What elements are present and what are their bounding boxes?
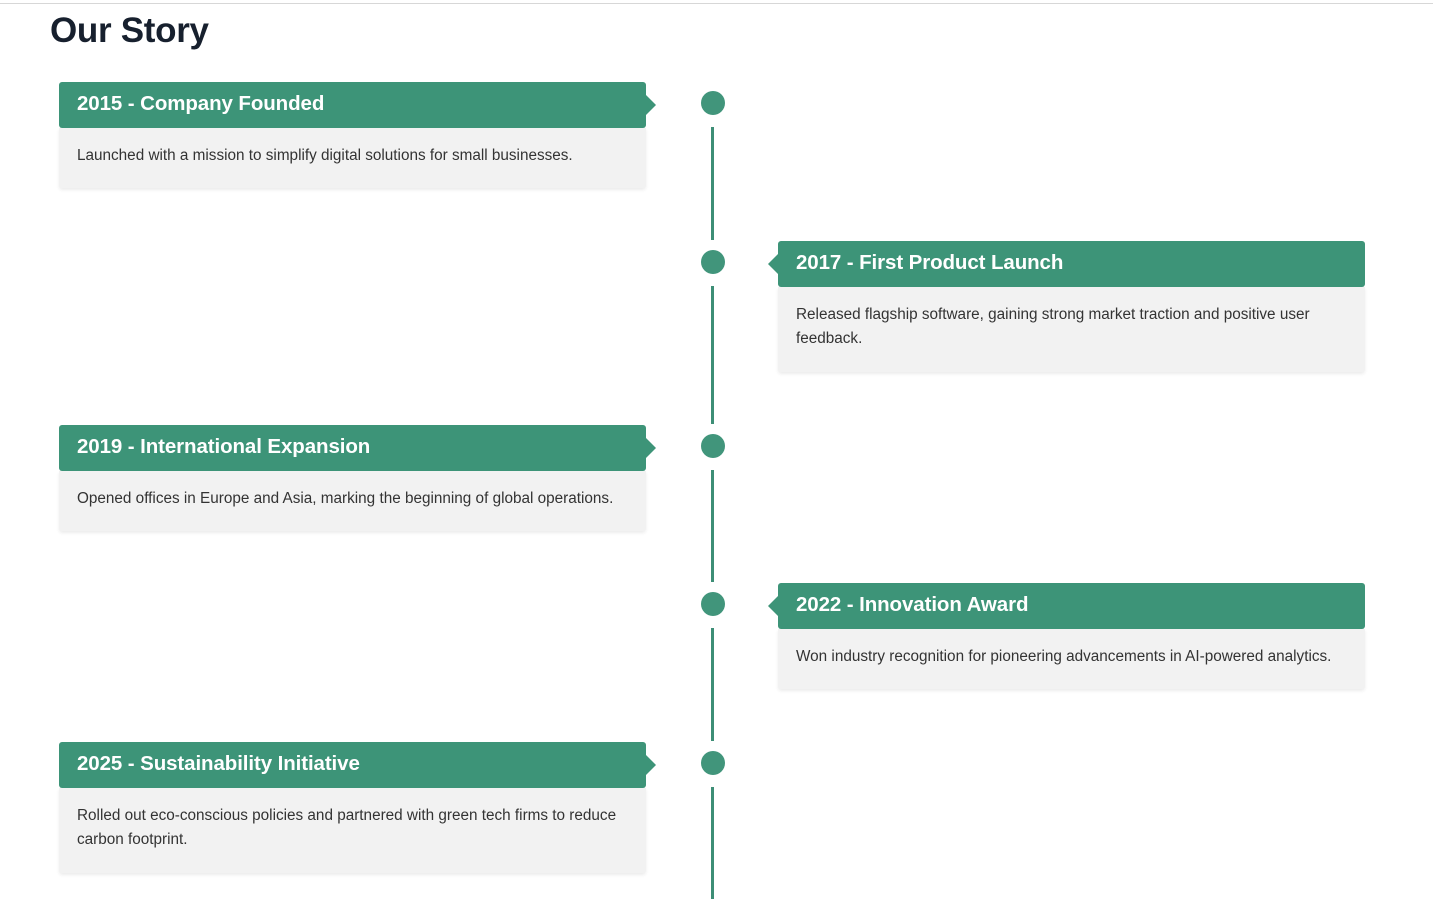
timeline-card-description: Opened offices in Europe and Asia, marki…: [59, 471, 646, 532]
timeline-card-title: 2019 - International Expansion: [77, 437, 370, 458]
timeline-dot-2019[interactable]: [701, 434, 725, 458]
timeline-connector-line-4: [711, 628, 714, 741]
arrow-left-icon: [768, 595, 779, 617]
timeline-card[interactable]: 2025 - Sustainability InitiativeRolled o…: [59, 742, 646, 873]
timeline-event-2019-international-expansion[interactable]: 2019 - International ExpansionOpened off…: [59, 425, 646, 531]
timeline-connector-line-2: [711, 286, 714, 424]
timeline-card-title: 2022 - Innovation Award: [796, 595, 1028, 616]
timeline-dot-2025[interactable]: [701, 751, 725, 775]
timeline-connector-line-3: [711, 470, 714, 582]
timeline-card-header[interactable]: 2019 - International Expansion: [59, 425, 646, 471]
timeline-event-2022-innovation-award[interactable]: 2022 - Innovation AwardWon industry reco…: [778, 583, 1365, 689]
timeline-card-description: Launched with a mission to simplify digi…: [59, 128, 646, 189]
arrow-right-icon: [645, 437, 656, 459]
timeline-event-2015-company-founded[interactable]: 2015 - Company FoundedLaunched with a mi…: [59, 82, 646, 188]
timeline-dot-2015[interactable]: [701, 91, 725, 115]
timeline-card[interactable]: 2019 - International ExpansionOpened off…: [59, 425, 646, 531]
timeline-card-title: 2025 - Sustainability Initiative: [77, 754, 360, 775]
timeline-card-header[interactable]: 2017 - First Product Launch: [778, 241, 1365, 287]
timeline-card-header[interactable]: 2025 - Sustainability Initiative: [59, 742, 646, 788]
timeline-card-title: 2017 - First Product Launch: [796, 253, 1063, 274]
timeline-dot-2022[interactable]: [701, 592, 725, 616]
timeline-card-description: Won industry recognition for pioneering …: [778, 629, 1365, 690]
timeline-dot-2017[interactable]: [701, 250, 725, 274]
timeline-connector-line-5: [711, 787, 714, 899]
top-divider-rule: [0, 3, 1433, 4]
timeline-event-2025-sustainability-initiative[interactable]: 2025 - Sustainability InitiativeRolled o…: [59, 742, 646, 873]
timeline-event-2017-first-product-launch[interactable]: 2017 - First Product LaunchReleased flag…: [778, 241, 1365, 372]
timeline-connector-line-1: [711, 127, 714, 240]
timeline-card-title: 2015 - Company Founded: [77, 94, 324, 115]
arrow-left-icon: [768, 253, 779, 275]
timeline-card[interactable]: 2017 - First Product LaunchReleased flag…: [778, 241, 1365, 372]
timeline-card-header[interactable]: 2022 - Innovation Award: [778, 583, 1365, 629]
timeline-card-header[interactable]: 2015 - Company Founded: [59, 82, 646, 128]
timeline-card-description: Rolled out eco-conscious policies and pa…: [59, 788, 646, 874]
arrow-right-icon: [645, 754, 656, 776]
timeline-card[interactable]: 2022 - Innovation AwardWon industry reco…: [778, 583, 1365, 689]
arrow-right-icon: [645, 94, 656, 116]
timeline-card[interactable]: 2015 - Company FoundedLaunched with a mi…: [59, 82, 646, 188]
timeline-card-description: Released flagship software, gaining stro…: [778, 287, 1365, 373]
page-title: Our Story: [50, 8, 209, 54]
